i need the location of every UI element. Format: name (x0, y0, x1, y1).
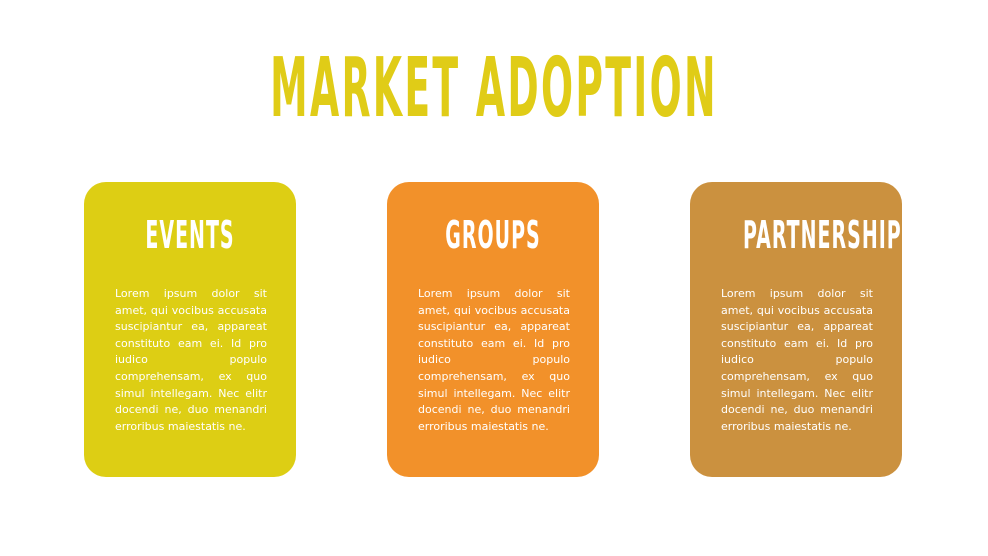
card-body-groups: Lorem ipsum dolor sit amet, qui vocibus … (418, 286, 570, 435)
card-body-partnerships: Lorem ipsum dolor sit amet, qui vocibus … (721, 286, 873, 435)
card-groups[interactable]: GROUPS Lorem ipsum dolor sit amet, qui v… (387, 182, 599, 477)
card-title-groups: GROUPS (440, 218, 546, 252)
card-partnerships[interactable]: PARTNERSHIPS Lorem ipsum dolor sit amet,… (690, 182, 902, 477)
cards-row: EVENTS Lorem ipsum dolor sit amet, qui v… (84, 182, 902, 477)
card-events[interactable]: EVENTS Lorem ipsum dolor sit amet, qui v… (84, 182, 296, 477)
slide-canvas: MARKET ADOPTION EVENTS Lorem ipsum dolor… (0, 0, 988, 556)
card-body-events: Lorem ipsum dolor sit amet, qui vocibus … (115, 286, 267, 435)
page-title: MARKET ADOPTION (267, 52, 721, 126)
card-title-events: EVENTS (137, 218, 243, 252)
card-title-partnerships: PARTNERSHIPS (743, 218, 849, 252)
